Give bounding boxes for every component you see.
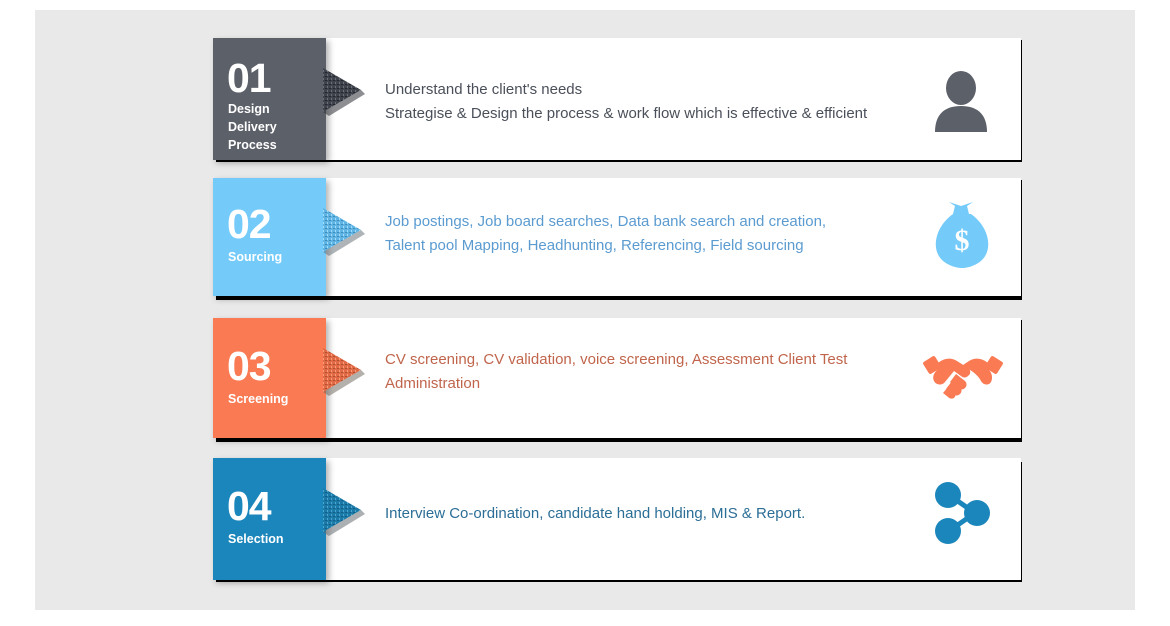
svg-text:$: $ [955, 224, 970, 257]
process-step-4[interactable]: 04 Selection Interview Co-ordination, ca… [213, 458, 1021, 580]
step-3-body-text: CV screening, CV validation, voice scree… [385, 348, 985, 396]
step-3-caption-line-1: Screening [228, 390, 288, 408]
step-1-body-text: Understand the client's needs Strategise… [385, 78, 945, 126]
step-4-number-block[interactable]: 04 Selection [213, 458, 326, 580]
step-1-number: 01 [227, 58, 271, 99]
step-1-arrow-icon [321, 60, 383, 122]
person-silhouette-icon [928, 66, 994, 137]
handshake-icon [923, 348, 1003, 405]
network-nodes-icon [931, 480, 993, 551]
step-4-body-text: Interview Co-ordination, candidate hand … [385, 502, 1005, 526]
step-2-arrow-icon [321, 200, 383, 262]
step-4-number: 04 [227, 486, 271, 527]
process-step-2[interactable]: 02 Sourcing Job postings, Job board sear… [213, 178, 1021, 296]
step-4-arrow-icon [321, 480, 383, 542]
step-3-arrow-icon [321, 340, 383, 402]
step-4-caption-line-1: Selection [228, 530, 284, 548]
step-3-number-block[interactable]: 03 Screening [213, 318, 326, 438]
step-1-caption-line-1: Design [228, 100, 270, 118]
step-2-number: 02 [227, 204, 271, 245]
slide-canvas: 01 Design Delivery Process Understand th… [0, 0, 1170, 626]
step-1-number-block[interactable]: 01 Design Delivery Process [213, 38, 326, 160]
step-2-caption-line-1: Sourcing [228, 248, 282, 266]
step-2-body-text: Job postings, Job board searches, Data b… [385, 210, 965, 258]
step-1-caption-line-2: Delivery Process [228, 118, 326, 154]
money-bag-icon: $ [931, 200, 993, 273]
process-step-3[interactable]: 03 Screening CV screening, CV validation… [213, 318, 1021, 438]
step-3-number: 03 [227, 346, 271, 387]
step-2-number-block[interactable]: 02 Sourcing [213, 178, 326, 296]
process-step-1[interactable]: 01 Design Delivery Process Understand th… [213, 38, 1021, 160]
